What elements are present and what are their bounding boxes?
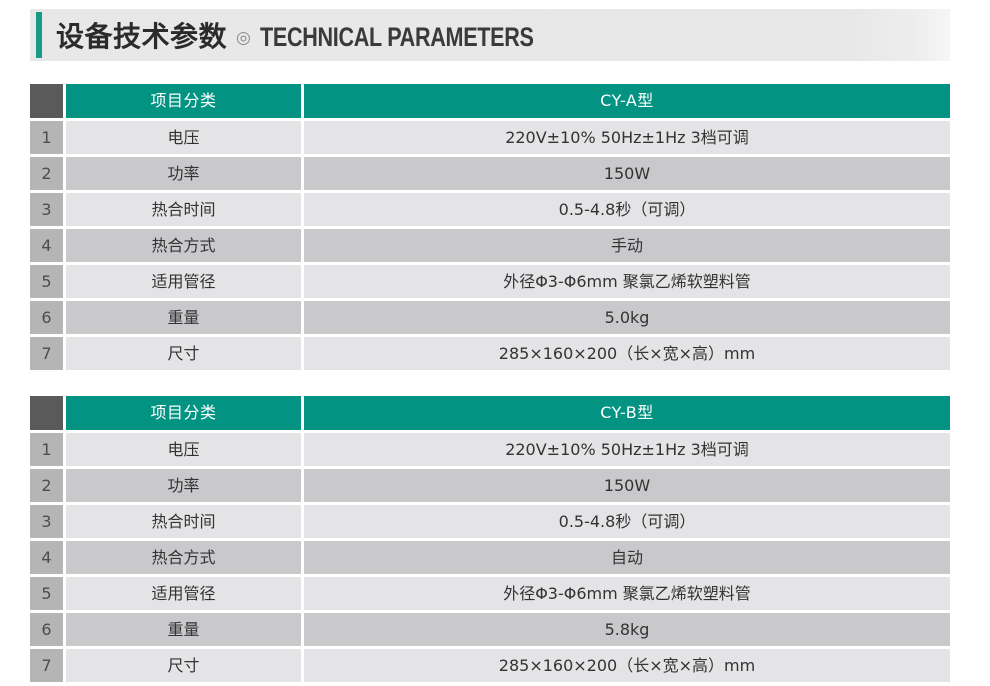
row-item: 电压 (66, 121, 304, 157)
row-item: 热合时间 (66, 193, 304, 229)
row-item: 功率 (66, 469, 304, 505)
row-index: 1 (30, 433, 66, 469)
row-value: 5.8kg (304, 613, 950, 649)
table-row: 1 电压 220V±10% 50Hz±1Hz 3档可调 (30, 121, 950, 157)
table-row: 2 功率 150W (30, 157, 950, 193)
table-row: 5 适用管径 外径Φ3-Φ6mm 聚氯乙烯软塑料管 (30, 265, 950, 301)
row-item: 热合方式 (66, 541, 304, 577)
row-index: 7 (30, 337, 66, 373)
page-title-en: TECHNICAL PARAMETERS (260, 22, 534, 53)
row-index: 4 (30, 541, 66, 577)
row-value: 285×160×200（长×宽×高）mm (304, 337, 950, 373)
table-row: 1 电压 220V±10% 50Hz±1Hz 3档可调 (30, 433, 950, 469)
column-header-index (30, 84, 66, 121)
row-index: 2 (30, 469, 66, 505)
row-value: 220V±10% 50Hz±1Hz 3档可调 (304, 121, 950, 157)
double-circle-icon: ◎ (236, 28, 251, 48)
row-index: 3 (30, 193, 66, 229)
row-value: 220V±10% 50Hz±1Hz 3档可调 (304, 433, 950, 469)
row-index: 6 (30, 613, 66, 649)
row-item: 适用管径 (66, 265, 304, 301)
page-title-cn: 设备技术参数 (56, 15, 227, 55)
column-header-index (30, 396, 66, 433)
row-index: 5 (30, 577, 66, 613)
row-value: 150W (304, 157, 950, 193)
spec-table-cy-b: 项目分类 CY-B型 1 电压 220V±10% 50Hz±1Hz 3档可调 2… (30, 396, 950, 685)
column-header-model: CY-A型 (304, 84, 950, 121)
row-item: 电压 (66, 433, 304, 469)
row-value: 285×160×200（长×宽×高）mm (304, 649, 950, 685)
table-row: 5 适用管径 外径Φ3-Φ6mm 聚氯乙烯软塑料管 (30, 577, 950, 613)
row-value: 外径Φ3-Φ6mm 聚氯乙烯软塑料管 (304, 577, 950, 613)
column-header-item: 项目分类 (66, 396, 304, 433)
table-row: 7 尺寸 285×160×200（长×宽×高）mm (30, 337, 950, 373)
row-value: 自动 (304, 541, 950, 577)
technical-parameters-page: 设备技术参数 ◎ TECHNICAL PARAMETERS 项目分类 CY-A型… (0, 0, 990, 686)
row-index: 7 (30, 649, 66, 685)
row-index: 4 (30, 229, 66, 265)
table-row: 6 重量 5.8kg (30, 613, 950, 649)
section-title-group: 设备技术参数 ◎ TECHNICAL PARAMETERS (56, 15, 602, 55)
row-value: 5.0kg (304, 301, 950, 337)
row-item: 尺寸 (66, 649, 304, 685)
row-item: 功率 (66, 157, 304, 193)
row-index: 2 (30, 157, 66, 193)
column-header-model: CY-B型 (304, 396, 950, 433)
row-item: 热合方式 (66, 229, 304, 265)
row-item: 热合时间 (66, 505, 304, 541)
row-value: 0.5-4.8秒（可调） (304, 193, 950, 229)
row-index: 3 (30, 505, 66, 541)
table-row: 4 热合方式 自动 (30, 541, 950, 577)
table-row: 6 重量 5.0kg (30, 301, 950, 337)
spec-table-cy-a: 项目分类 CY-A型 1 电压 220V±10% 50Hz±1Hz 3档可调 2… (30, 84, 950, 373)
row-item: 适用管径 (66, 577, 304, 613)
row-index: 1 (30, 121, 66, 157)
table-row: 4 热合方式 手动 (30, 229, 950, 265)
row-value: 手动 (304, 229, 950, 265)
accent-bar (36, 12, 42, 58)
row-index: 5 (30, 265, 66, 301)
table-header-row: 项目分类 CY-A型 (30, 84, 950, 121)
column-header-item: 项目分类 (66, 84, 304, 121)
section-header-banner: 设备技术参数 ◎ TECHNICAL PARAMETERS (30, 9, 950, 61)
row-value: 150W (304, 469, 950, 505)
row-item: 尺寸 (66, 337, 304, 373)
table-row: 3 热合时间 0.5-4.8秒（可调） (30, 505, 950, 541)
table-row: 2 功率 150W (30, 469, 950, 505)
row-index: 6 (30, 301, 66, 337)
row-value: 0.5-4.8秒（可调） (304, 505, 950, 541)
row-item: 重量 (66, 301, 304, 337)
row-value: 外径Φ3-Φ6mm 聚氯乙烯软塑料管 (304, 265, 950, 301)
table-header-row: 项目分类 CY-B型 (30, 396, 950, 433)
table-row: 7 尺寸 285×160×200（长×宽×高）mm (30, 649, 950, 685)
table-row: 3 热合时间 0.5-4.8秒（可调） (30, 193, 950, 229)
row-item: 重量 (66, 613, 304, 649)
